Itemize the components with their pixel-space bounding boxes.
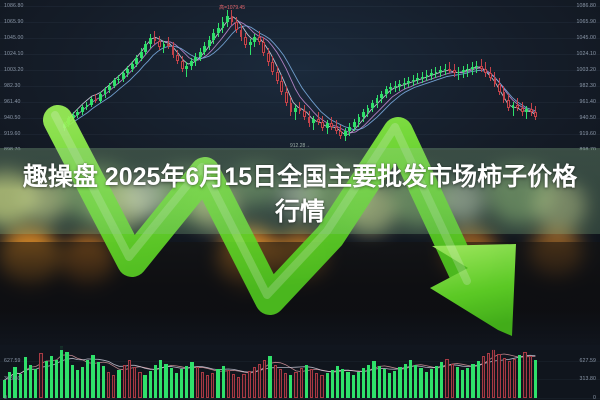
- screenshot-root: 1086.801065.901045.001024.101003.20982.3…: [0, 0, 600, 400]
- page-title: 趣操盘 2025年6月15日全国主要批发市场柿子价格行情: [0, 160, 600, 230]
